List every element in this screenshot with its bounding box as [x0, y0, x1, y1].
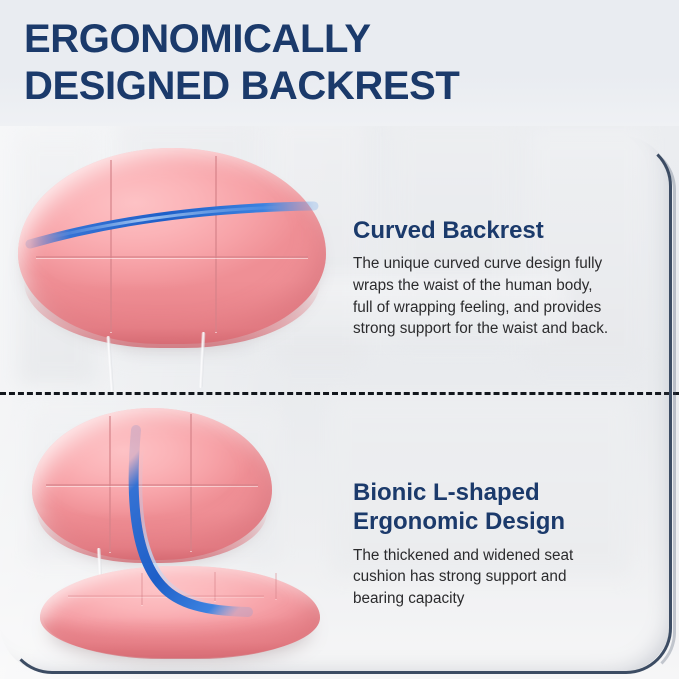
header-banner: ERGONOMICALLY DESIGNED BACKREST [0, 0, 679, 126]
feature-block-curved-backrest: Curved Backrest The unique curved curve … [353, 216, 653, 340]
page-title: ERGONOMICALLY DESIGNED BACKREST [24, 16, 664, 110]
blue-curve-arc-icon [22, 186, 322, 296]
feature-description: The thickened and widened seat cushion h… [353, 545, 653, 610]
product-feature-poster: ERGONOMICALLY DESIGNED BACKREST [0, 0, 679, 679]
feature-block-bionic-l-shaped: Bionic L-shaped Ergonomic Design The thi… [353, 478, 653, 610]
feature-description: The unique curved curve design fully wra… [353, 253, 653, 340]
feature-card: Curved Backrest The unique curved curve … [0, 126, 679, 679]
section-divider [0, 392, 679, 395]
blue-l-curve-icon [120, 426, 260, 636]
feature-title: Bionic L-shaped Ergonomic Design [353, 478, 653, 537]
feature-title: Curved Backrest [353, 216, 653, 245]
seam-line [275, 573, 277, 599]
